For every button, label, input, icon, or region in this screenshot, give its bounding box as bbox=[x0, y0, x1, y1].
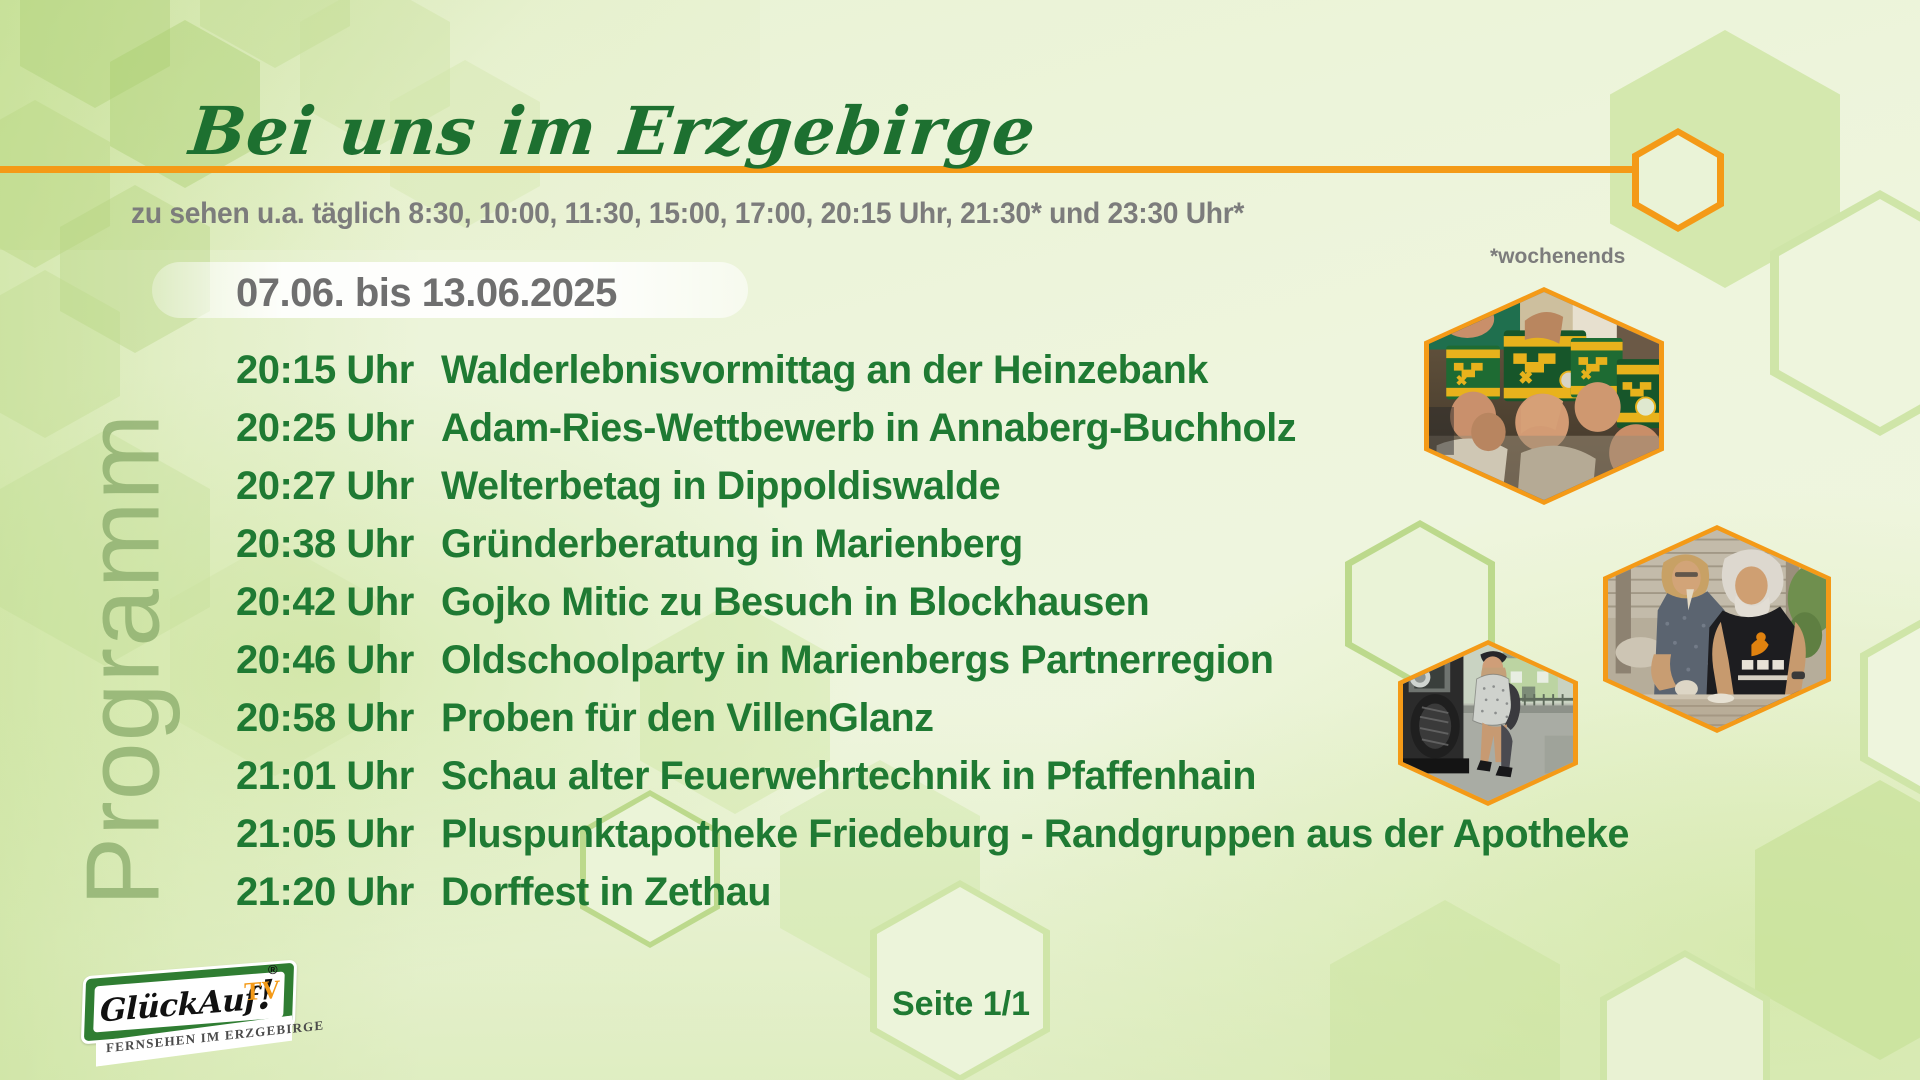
program-time: 21:01 Uhr bbox=[236, 754, 441, 799]
program-time: 21:05 Uhr bbox=[236, 812, 441, 857]
program-time: 20:42 Uhr bbox=[236, 580, 441, 625]
program-title: Dorffest in Zethau bbox=[441, 870, 771, 915]
photo-miners-children-art bbox=[1429, 292, 1659, 500]
decorative-hexagon-outline bbox=[1770, 190, 1920, 436]
program-title: Adam-Ries-Wettbewerb in Annaberg-Buchhol… bbox=[441, 406, 1296, 451]
decorative-hexagon-outline bbox=[1860, 600, 1920, 814]
logo-registered-icon: ® bbox=[268, 962, 278, 977]
program-time: 20:58 Uhr bbox=[236, 696, 441, 741]
broadcast-times: zu sehen u.a. täglich 8:30, 10:00, 11:30… bbox=[131, 197, 1244, 231]
program-row: 20:38 Uhr Gründerberatung in Marienberg bbox=[236, 522, 1756, 580]
page-title: Bei uns im Erzgebirge bbox=[186, 92, 1040, 170]
program-time: 20:27 Uhr bbox=[236, 464, 441, 509]
program-time: 20:15 Uhr bbox=[236, 348, 441, 393]
header-rule-hexagon-icon bbox=[1632, 128, 1724, 232]
program-title: Gründerberatung in Marienberg bbox=[441, 522, 1023, 567]
program-time: 21:20 Uhr bbox=[236, 870, 441, 915]
logo-tv-text: TV bbox=[244, 975, 280, 1008]
program-row: 21:05 Uhr Pluspunktapotheke Friedeburg -… bbox=[236, 812, 1756, 870]
page-indicator: Seite 1/1 bbox=[892, 985, 1030, 1024]
program-time: 20:25 Uhr bbox=[236, 406, 441, 451]
program-title: Gojko Mitic zu Besuch in Blockhausen bbox=[441, 580, 1149, 625]
program-time: 20:38 Uhr bbox=[236, 522, 441, 567]
weekend-footnote: *wochenends bbox=[1490, 245, 1625, 269]
program-title: Welterbetag in Dippoldiswalde bbox=[441, 464, 1000, 509]
program-row: 20:42 Uhr Gojko Mitic zu Besuch in Block… bbox=[236, 580, 1756, 638]
photo-hexagon-miners-children bbox=[1424, 287, 1664, 505]
program-title: Proben für den VillenGlanz bbox=[441, 696, 934, 741]
poster-canvas: Bei uns im Erzgebirge zu sehen u.a. tägl… bbox=[0, 0, 1920, 1080]
program-title: Pluspunktapotheke Friedeburg - Randgrupp… bbox=[441, 812, 1629, 857]
program-title: Walderlebnisvormittag an der Heinzebank bbox=[441, 348, 1208, 393]
channel-logo[interactable]: GlückAuf! TV ® FERNSEHEN IM ERZGEBIRGE bbox=[82, 968, 297, 1066]
photo-hexagon-oldtimer-woman bbox=[1398, 640, 1578, 806]
photo-hexagon-couple-terrace bbox=[1603, 525, 1831, 733]
photo-couple-terrace-art bbox=[1608, 530, 1826, 728]
logo-wordmark-text: GlückAuf bbox=[100, 981, 257, 1029]
program-title: Oldschoolparty in Marienbergs Partnerreg… bbox=[441, 638, 1274, 683]
program-title: Schau alter Feuerwehrtechnik in Pfaffenh… bbox=[441, 754, 1256, 799]
program-time: 20:46 Uhr bbox=[236, 638, 441, 683]
program-row: 21:20 Uhr Dorffest in Zethau bbox=[236, 870, 1756, 928]
date-range-label: 07.06. bis 13.06.2025 bbox=[236, 271, 617, 316]
decorative-hexagon-outline bbox=[1600, 950, 1770, 1080]
